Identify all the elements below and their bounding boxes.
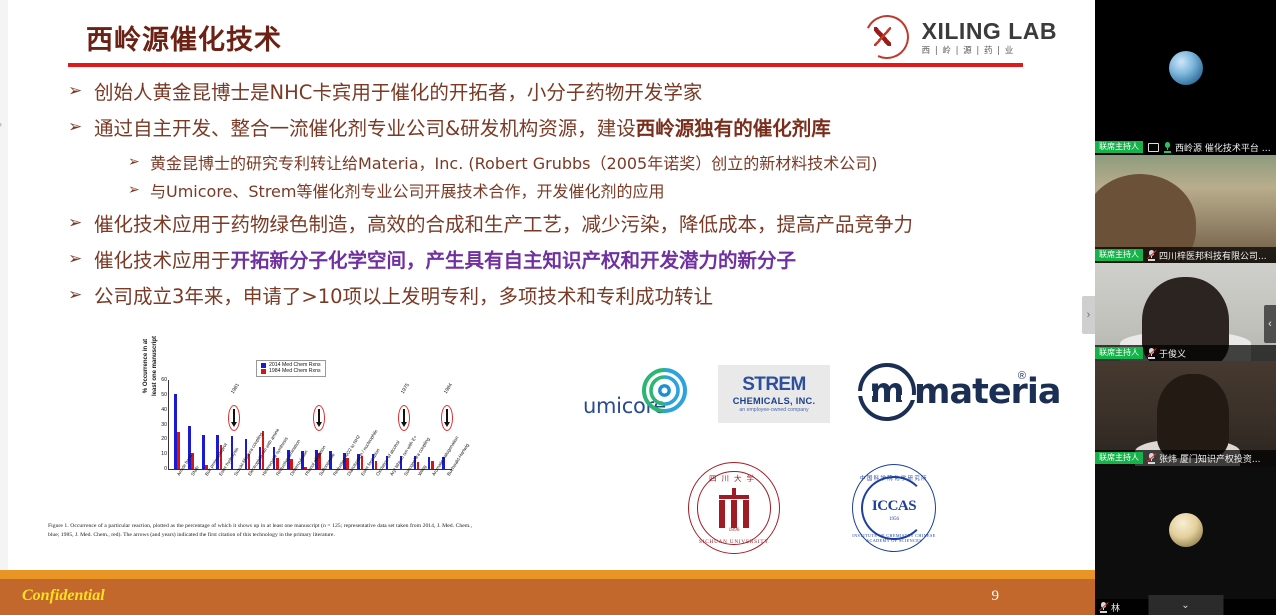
slide-footer: Confidential 9 [0, 570, 1095, 615]
partner-logo-iccas: 中国科学院化学研究所 ICCAS 1956 INSTITUTE OF CHEMI… [850, 462, 938, 554]
bullet-item: ➢ 通过自主开发、整合一流催化剂专业公司&研发机构资源，建设西岭源独有的催化剂库 [68, 116, 1068, 142]
partner-logo-sichuan-university: 四川大学 1896 SICHUAN UNIVERSITY [688, 462, 780, 554]
umicore-swirl-icon [642, 368, 687, 413]
logo-subtitle: 西 | 岭 | 源 | 药 | 业 [922, 47, 1057, 56]
participant-name: 林 [1111, 601, 1123, 614]
confidential-label: Confidential [22, 587, 105, 605]
screen-share-icon [1148, 143, 1159, 152]
strem-subtitle: CHEMICALS, INC. [733, 396, 816, 406]
scu-english-name: SICHUAN UNIVERSITY [688, 539, 780, 545]
bar-group [424, 379, 438, 469]
legend-swatch-2014 [261, 363, 266, 368]
scu-gate-icon [719, 488, 749, 528]
bullet-marker-icon: ➢ [128, 153, 150, 172]
avatar [1169, 51, 1203, 85]
microphone-muted-icon[interactable] [1147, 453, 1156, 464]
strem-tagline: an employee-owned company [739, 407, 808, 413]
scu-chinese-name: 四川大学 [688, 473, 780, 484]
page-title: 西岭源催化技术 [86, 18, 282, 57]
y-axis-label-line1: % Occurrence in at [143, 326, 149, 406]
figure-caption: Figure 1. Occurrence of a particular rea… [48, 522, 472, 540]
bullet-marker-icon: ➢ [68, 80, 94, 103]
annotation-arrow [313, 405, 325, 431]
video-tile[interactable]: 联席主持人 张炜 厦门知识产权投资... [1095, 361, 1276, 466]
role-badge: 联席主持人 [1095, 452, 1143, 464]
bullet-list: ➢ 创始人黄金昆博士是NHC卡宾用于催化的开拓者，小分子药物开发学家 ➢ 通过自… [68, 80, 1068, 321]
role-badge: 联席主持人 [1095, 249, 1143, 261]
y-tick: 30 [161, 422, 167, 428]
partner-logo-materia: m materia ® [858, 363, 1026, 423]
bullet-text-emphasis: 西岭源独有的催化剂库 [636, 117, 831, 140]
reaction-occurrence-figure: 2014 Med Chem Rxns 1984 Med Chem Rxns % … [46, 358, 476, 558]
tile-name-bar: 联席主持人 张炜 厦门知识产权投资... [1095, 450, 1276, 466]
materia-wordmark: materia [914, 372, 1060, 412]
annotation-oval [228, 405, 240, 431]
iccas-english-name: INSTITUTE OF CHEMISTRY CHINESE ACADEMY O… [850, 533, 938, 543]
logo-wordmark: XILING LAB [922, 20, 1057, 43]
video-feed [1095, 466, 1276, 615]
bullet-item: ➢ 创始人黄金昆博士是NHC卡宾用于催化的开拓者，小分子药物开发学家 [68, 80, 1068, 106]
participant-name: 张炜 厦门知识产权投资... [1159, 452, 1263, 465]
video-tile[interactable]: ‹ 联席主持人 于俊义 [1095, 263, 1276, 361]
materia-m-glyph: m [869, 374, 904, 408]
iccas-year: 1956 [850, 517, 938, 522]
sub-bullet-item: ➢ 黄金昆博士的研究专利转让给Materia，Inc. (Robert Grub… [68, 153, 1068, 175]
scu-year: 1896 [688, 527, 780, 533]
legend-swatch-1984 [261, 369, 266, 374]
participant-name: 西岭源 催化技术平台 李... [1175, 141, 1276, 154]
slide-content: › 西岭源催化技术 XILING LAB 西 | 岭 | 源 | 药 | 业 ➢ [0, 0, 1095, 570]
bullet-item: ➢ 催化技术应用于药物绿色制造，高效的合成和生产工艺，减少污染，降低成本，提高产… [68, 212, 1068, 238]
xiling-lab-logo: XILING LAB 西 | 岭 | 源 | 药 | 业 [861, 12, 1057, 64]
role-badge: 联席主持人 [1095, 347, 1143, 359]
iccas-chinese-name: 中国科学院化学研究所 [850, 474, 938, 482]
video-tile[interactable]: 联席主持人 西岭源 催化技术平台 李... [1095, 0, 1276, 155]
chevron-down-icon-scroll-more[interactable]: ⌄ [1148, 595, 1223, 615]
registered-trademark-icon: ® [1018, 370, 1026, 382]
strem-wordmark: STREM [742, 375, 806, 394]
y-tick: 0 [164, 466, 167, 472]
sub-bullet-text: 黄金昆博士的研究专利转让给Materia，Inc. (Robert Grubbs… [150, 153, 877, 175]
chart-legend: 2014 Med Chem Rxns 1984 Med Chem Rxns [256, 360, 326, 377]
bar-chart: 2014 Med Chem Rxns 1984 Med Chem Rxns % … [144, 360, 462, 520]
y-tick: 50 [161, 392, 167, 398]
sub-bullet-text: 与Umicore、Strem等催化剂专业公司开展技术合作，开发催化剂的应用 [150, 181, 665, 203]
logo-crescent-icon [861, 12, 913, 64]
y-tick: 40 [161, 407, 167, 413]
legend-item: 1984 Med Chem Rxns [261, 369, 321, 374]
microphone-muted-icon[interactable] [1147, 348, 1156, 359]
microphone-muted-icon[interactable] [1099, 602, 1108, 613]
bullet-text-plain: 催化技术应用于 [94, 249, 231, 272]
annotation-arrow: 1984 [441, 405, 453, 431]
shared-slide: › 西岭源催化技术 XILING LAB 西 | 岭 | 源 | 药 | 业 ➢ [0, 0, 1095, 615]
video-tile[interactable]: 林 ⌄ [1095, 466, 1276, 615]
video-tile[interactable]: 联席主持人 四川梓医邦科技有限公司... [1095, 155, 1276, 263]
bullet-text-plain: 通过自主开发、整合一流催化剂专业公司&研发机构资源，建设 [94, 117, 636, 140]
bullet-marker-icon: ➢ [68, 248, 94, 271]
participant-name: 四川梓医邦科技有限公司... [1159, 249, 1270, 262]
participant-video-strip: 联席主持人 西岭源 催化技术平台 李... 联席主持人 四川梓医邦科技有限公司.… [1095, 0, 1276, 615]
meeting-screen-share-view: › 西岭源催化技术 XILING LAB 西 | 岭 | 源 | 药 | 业 ➢ [0, 0, 1276, 615]
page-number: 9 [992, 588, 1000, 605]
legend-label-1984: 1984 Med Chem Rxns [269, 369, 321, 374]
slide-left-edge [0, 0, 8, 570]
role-badge: 联席主持人 [1095, 141, 1143, 153]
participant-name: 于俊义 [1159, 347, 1189, 360]
video-feed [1095, 0, 1276, 155]
footer-accent-stripe [0, 570, 1095, 579]
bullet-text: 通过自主开发、整合一流催化剂专业公司&研发机构资源，建设西岭源独有的催化剂库 [94, 116, 831, 142]
tile-name-bar: 联席主持人 西岭源 催化技术平台 李... [1095, 139, 1276, 155]
annotation-oval [313, 405, 325, 431]
bullet-text: 催化技术应用于药物绿色制造，高效的合成和生产工艺，减少污染，降低成本，提高产品竞… [94, 212, 913, 238]
chevron-right-icon-collapse-panel[interactable]: › [1082, 296, 1095, 334]
bullet-text: 公司成立3年来，申请了>10项以上发明专利，多项技术和专利成功转让 [94, 284, 713, 310]
y-tick: 60 [161, 377, 167, 383]
chevron-right-icon-left-edge[interactable]: › [0, 118, 7, 130]
bar [177, 432, 180, 469]
microphone-icon[interactable] [1163, 142, 1172, 153]
sub-bullet-item: ➢ 与Umicore、Strem等催化剂专业公司开展技术合作，开发催化剂的应用 [68, 181, 1068, 203]
bar-group [170, 379, 184, 469]
partner-logo-strem: STREM CHEMICALS, INC. an employee-owned … [718, 365, 830, 423]
bullet-marker-icon: ➢ [68, 284, 94, 307]
avatar [1169, 513, 1203, 547]
tile-name-bar: 联席主持人 四川梓医邦科技有限公司... [1095, 247, 1276, 263]
bullet-marker-icon: ➢ [68, 212, 94, 235]
bullet-item: ➢ 催化技术应用于开拓新分子化学空间，产生具有自主知识产权和开发潜力的新分子 [68, 248, 1068, 274]
tile-name-bar: 联席主持人 于俊义 [1095, 345, 1276, 361]
annotation-arrow: 1975 [398, 405, 410, 431]
chevron-left-icon-collapse-strip[interactable]: ‹ [1264, 305, 1276, 343]
y-tick: 20 [161, 436, 167, 442]
annotation-oval [441, 405, 453, 431]
annotation-arrow: 1981 [228, 405, 240, 431]
bullet-marker-icon: ➢ [128, 181, 150, 200]
bullet-marker-icon: ➢ [68, 116, 94, 139]
bar [431, 461, 434, 469]
materia-circle-icon: m [858, 363, 916, 421]
bar [417, 462, 420, 469]
y-axis-label-line2: least one manuscript [152, 326, 158, 406]
bar-group [198, 379, 212, 469]
bullet-item: ➢ 公司成立3年来，申请了>10项以上发明专利，多项技术和专利成功转让 [68, 284, 1068, 310]
bullet-text: 创始人黄金昆博士是NHC卡宾用于催化的开拓者，小分子药物开发学家 [94, 80, 702, 106]
bar [375, 461, 378, 469]
bullet-text-highlight: 开拓新分子化学空间，产生具有自主知识产权和开发潜力的新分子 [231, 249, 797, 272]
y-tick: 10 [161, 451, 167, 457]
iccas-wordmark: ICCAS [850, 498, 938, 515]
microphone-muted-icon[interactable] [1147, 250, 1156, 261]
partner-logo-umicore: umicore [583, 368, 693, 423]
bullet-text: 催化技术应用于开拓新分子化学空间，产生具有自主知识产权和开发潜力的新分子 [94, 248, 796, 274]
annotation-oval [398, 405, 410, 431]
